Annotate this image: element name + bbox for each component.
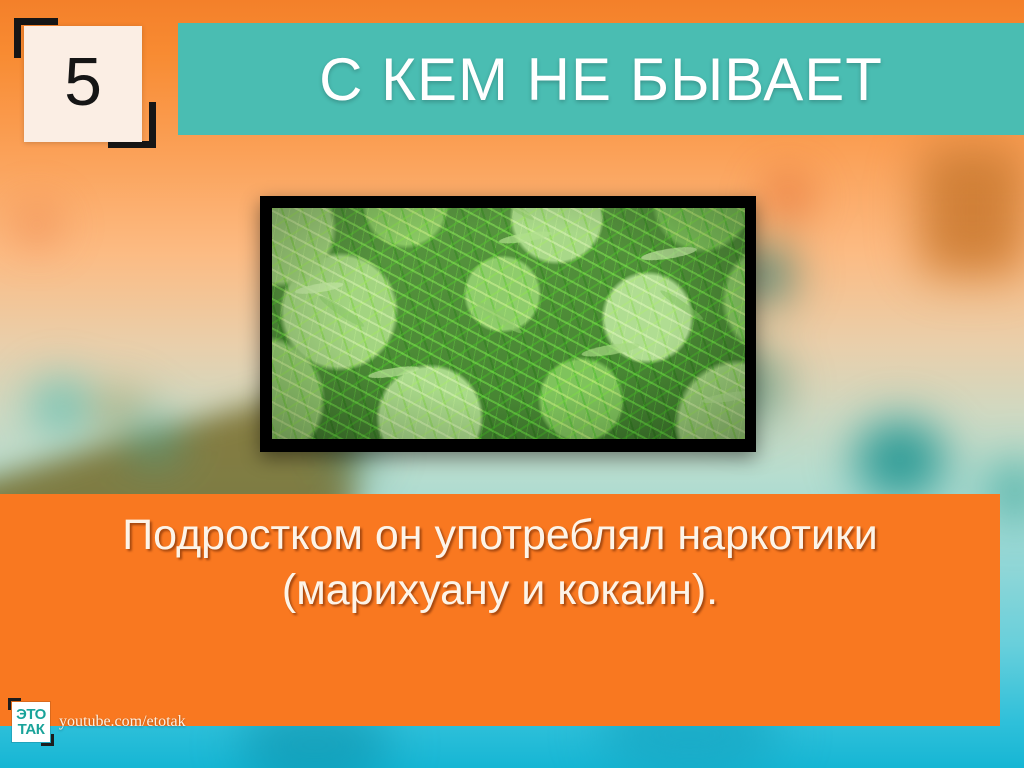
- caption-line-2: (марихуану и кокаин).: [24, 563, 976, 618]
- slide-number-value: 5: [64, 48, 102, 116]
- watermark-url: youtube.com/etotak: [59, 713, 186, 731]
- background-blob: [20, 210, 54, 240]
- slide-number-badge: 5: [12, 16, 172, 156]
- caption-text: Подростком он употреблял наркотики (мари…: [0, 508, 1000, 618]
- slide-number-box: 5: [24, 26, 142, 142]
- photo-frame: [260, 196, 756, 452]
- photo-vignette: [272, 208, 745, 439]
- slide-root: 5 С КЕМ НЕ БЫВАЕТ Подростком он употребл…: [0, 0, 1024, 768]
- background-blob: [770, 180, 806, 214]
- background-blob: [128, 415, 180, 463]
- title-band: С КЕМ НЕ БЫВАЕТ: [178, 23, 1024, 135]
- etotak-logo: ЭТО ТАК: [12, 702, 50, 742]
- logo-corner-bracket-bottom-right-icon: [41, 734, 54, 746]
- caption-band: Подростком он употреблял наркотики (мари…: [0, 494, 1000, 726]
- watermark: ЭТО ТАК youtube.com/etotak: [12, 702, 186, 742]
- caption-line-1: Подростком он употреблял наркотики: [24, 508, 976, 563]
- background-blob: [855, 420, 945, 500]
- slide-title: С КЕМ НЕ БЫВАЕТ: [319, 45, 883, 114]
- background-blob: [920, 145, 1024, 275]
- logo-corner-bracket-top-left-icon: [8, 698, 21, 710]
- background-blob: [30, 380, 92, 432]
- cannabis-plants-photo: [272, 208, 745, 439]
